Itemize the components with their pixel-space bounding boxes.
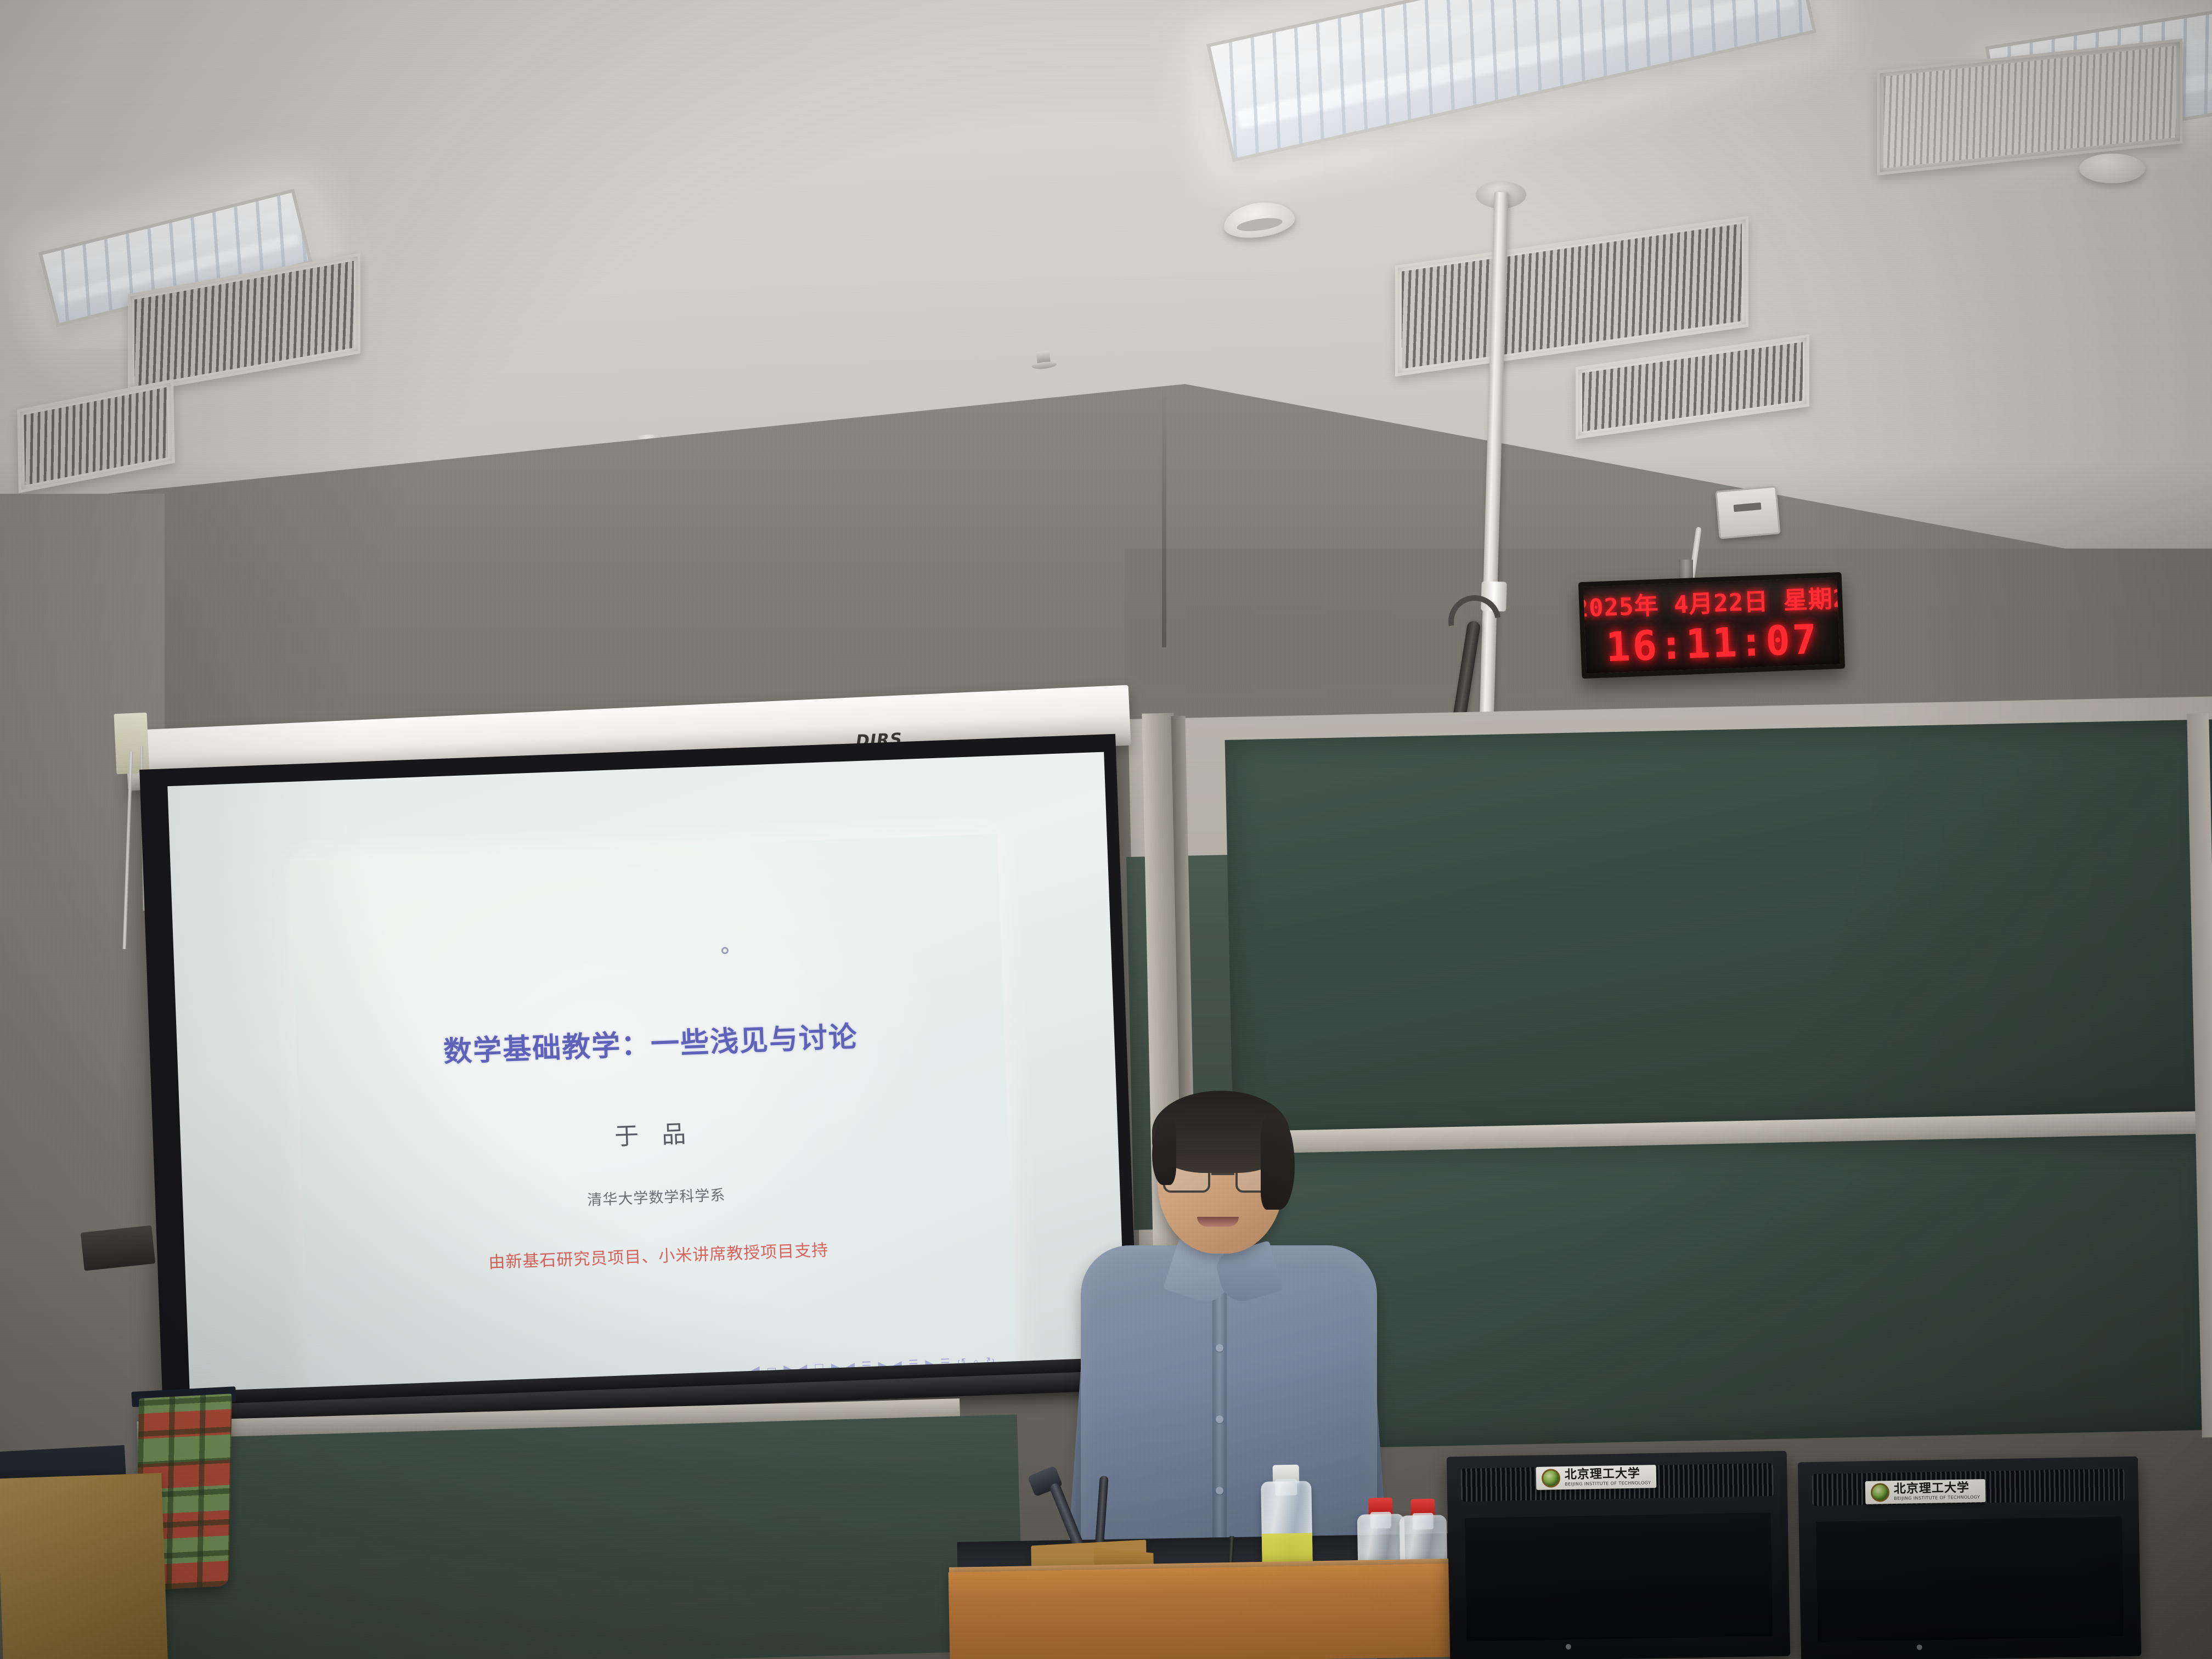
- slide-cursor-icon: [721, 947, 729, 954]
- ceiling-speaker-icon: [2079, 154, 2145, 183]
- monitor-logo-badge: 北京理工大学 BEIJING INSTITUTE OF TECHNOLOGY: [1865, 1479, 1986, 1504]
- monitor-logo-en: BEIJING INSTITUTE OF TECHNOLOGY: [1894, 1495, 1980, 1501]
- projected-slide: 数学基础教学：一些浅见与讨论 于 品 清华大学数学科学系 由新基石研究员项目、小…: [290, 834, 1017, 1403]
- monitor-logo-badge: 北京理工大学 BEIJING INSTITUTE OF TECHNOLOGY: [1536, 1465, 1657, 1490]
- wall-corner-seam: [1162, 384, 1166, 647]
- wall-bracket: [81, 1225, 156, 1271]
- wall-outlet: [1715, 486, 1780, 539]
- lecture-hall-photo: 2025年 4月22日 星期2 16:11:07 DIRS 数学基础教学：一些浅…: [0, 0, 2212, 1659]
- sprinkler-head-icon: [1030, 350, 1058, 378]
- digital-clock: 2025年 4月22日 星期2 16:11:07: [1578, 572, 1845, 679]
- slide-author: 于 品: [300, 1102, 1008, 1163]
- screen-surface: 数学基础教学：一些浅见与讨论 于 品 清华大学数学科学系 由新基石研究员项目、小…: [167, 752, 1126, 1394]
- shirt-button: [1216, 1487, 1223, 1494]
- shirt-button: [1216, 1415, 1223, 1423]
- slide-support-note: 由新基石研究员项目、小米讲席教授项目支持: [304, 1229, 1013, 1279]
- monitor-power-button[interactable]: [1916, 1644, 1922, 1650]
- presenter-hair-side: [1152, 1119, 1176, 1185]
- wood-cabinet: [0, 1473, 168, 1659]
- blackboard-panel-upper[interactable]: [1225, 719, 2212, 1141]
- projection-screen: 数学基础教学：一些浅见与讨论 于 品 清华大学数学科学系 由新基石研究员项目、小…: [139, 734, 1139, 1411]
- clock-time: 16:11:07: [1605, 616, 1820, 672]
- monitor-power-button[interactable]: [1566, 1644, 1571, 1650]
- presenter-mouth: [1197, 1217, 1239, 1227]
- university-seal-icon: [1871, 1483, 1890, 1502]
- left-blackboard-lower[interactable]: [161, 1414, 1023, 1659]
- monitor-logo-cn: 北京理工大学: [1565, 1468, 1651, 1481]
- presenter-hair-side: [1261, 1114, 1295, 1210]
- slide-affiliation: 清华大学数学科学系: [302, 1172, 1011, 1220]
- monitor-screen[interactable]: [1465, 1513, 1773, 1641]
- shirt-button: [1216, 1344, 1223, 1352]
- monitor-logo-cn: 北京理工大学: [1894, 1482, 1980, 1496]
- slide-title: 数学基础教学：一些浅见与讨论: [296, 1008, 1005, 1075]
- monitor-screen[interactable]: [1816, 1516, 2124, 1641]
- monitor-logo-en: BEIJING INSTITUTE OF TECHNOLOGY: [1565, 1481, 1651, 1487]
- university-seal-icon: [1542, 1469, 1561, 1488]
